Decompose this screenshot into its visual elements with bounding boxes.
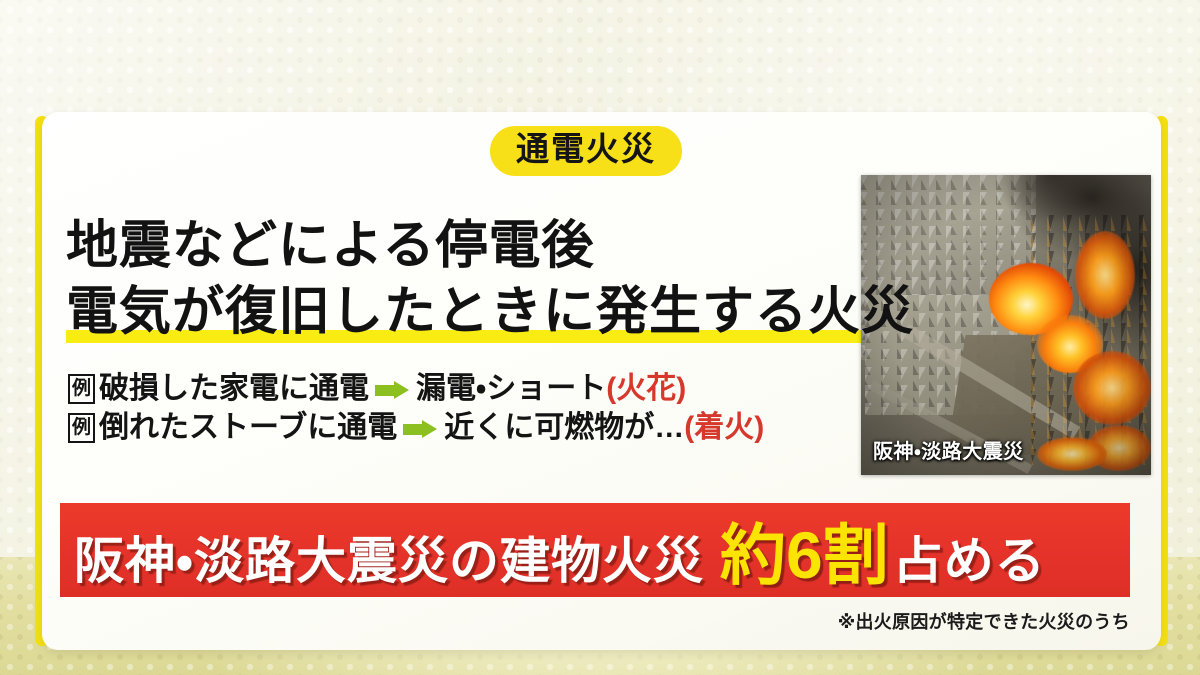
example-row: 例 倒れたストーブに通電 近くに可燃物が… (着火) bbox=[68, 413, 764, 443]
example-effect: 近くに可燃物が… bbox=[444, 413, 684, 443]
footnote: ※出火原因が特定できた火災のうち bbox=[838, 608, 1130, 634]
headline-line-2-text: 電気が復旧したときに発生する火災 bbox=[66, 283, 914, 341]
headline-line-1-text: 地震などによる停電後 bbox=[66, 217, 594, 275]
example-result: (火花) bbox=[606, 374, 686, 404]
arrow-right-icon bbox=[403, 420, 437, 437]
statistic-banner: 阪神・淡路大震災の建物火災 約6割 占める bbox=[60, 503, 1130, 597]
infographic-slide: 通電火災 地震などによる停電後 電気が復旧したときに発生する火災 例 破損した家… bbox=[0, 0, 1200, 675]
photo-caption: 阪神・淡路大震災 bbox=[873, 435, 1024, 464]
example-result: (着火) bbox=[684, 413, 764, 443]
example-list: 例 破損した家電に通電 漏電・ショート (火花) 例 倒れたストーブに通電 近く… bbox=[68, 374, 764, 452]
headline: 地震などによる停電後 電気が復旧したときに発生する火災 bbox=[66, 214, 846, 345]
example-tag: 例 bbox=[68, 413, 95, 443]
example-cause: 破損した家電に通電 bbox=[99, 374, 369, 404]
statistic-main-text: 阪神・淡路大震災の建物火災 bbox=[74, 521, 704, 593]
statistic-banner-content: 阪神・淡路大震災の建物火災 約6割 占める bbox=[60, 502, 1046, 598]
headline-line-1: 地震などによる停電後 bbox=[66, 214, 846, 280]
statistic-tail-text: 占める bbox=[893, 521, 1046, 593]
example-effect: 漏電・ショート bbox=[416, 374, 606, 404]
headline-line-2: 電気が復旧したときに発生する火災 bbox=[66, 280, 914, 346]
example-row: 例 破損した家電に通電 漏電・ショート (火花) bbox=[68, 374, 764, 404]
statistic-highlight: 約6割 bbox=[720, 502, 889, 598]
example-cause: 倒れたストーブに通電 bbox=[99, 413, 397, 443]
title-badge: 通電火災 bbox=[490, 126, 682, 176]
example-tag: 例 bbox=[68, 374, 95, 404]
arrow-right-icon bbox=[375, 381, 409, 398]
